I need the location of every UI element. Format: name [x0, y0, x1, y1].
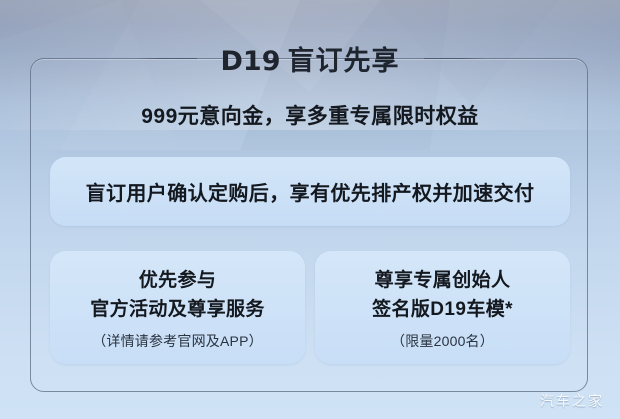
benefit-card-model: 尊享专属创始人 签名版D19车模* （限量2000名） — [315, 251, 570, 364]
headline: 999元意向金，享多重专属限时权益 — [0, 100, 620, 130]
benefit-card-events: 优先参与 官方活动及尊享服务 （详情请参考官网及APP） — [50, 251, 305, 364]
benefit-card-events-line1: 优先参与 — [139, 266, 217, 295]
title-rule-right — [424, 58, 486, 59]
benefit-card-events-line2: 官方活动及尊享服务 — [90, 295, 265, 324]
title-rule-left — [135, 58, 197, 59]
promo-poster: D19盲订先享 999元意向金，享多重专属限时权益 盲订用户确认定购后，享有优先… — [0, 0, 620, 419]
priority-delivery-card: 盲订用户确认定购后，享有优先排产权并加速交付 — [50, 157, 570, 226]
watermark: 汽车之家 — [540, 391, 604, 411]
priority-delivery-text: 盲订用户确认定购后，享有优先排产权并加速交付 — [86, 177, 535, 206]
benefit-card-model-line2: 签名版D19车模* — [372, 295, 513, 324]
benefit-card-model-line1: 尊享专属创始人 — [375, 266, 511, 295]
title-suffix: 盲订先享 — [288, 46, 400, 76]
benefit-card-model-note: （限量2000名） — [391, 331, 494, 351]
title-row: D19盲订先享 — [0, 40, 620, 76]
benefit-card-events-note: （详情请参考官网及APP） — [92, 331, 263, 351]
page-title: D19盲订先享 — [215, 39, 406, 78]
title-model: D19 — [221, 46, 281, 77]
